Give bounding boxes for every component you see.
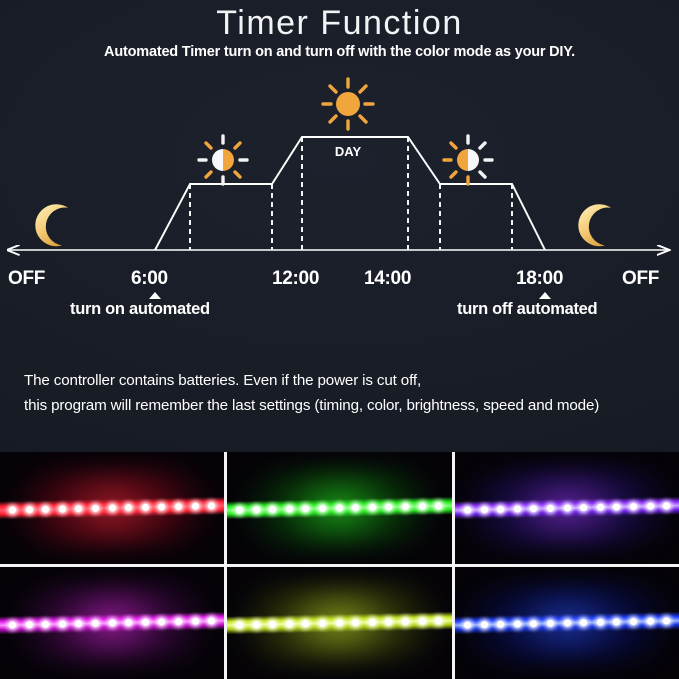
battery-note-line-1: The controller contains batteries. Even … bbox=[24, 368, 664, 393]
led-strip-blue bbox=[455, 567, 679, 679]
sunrise-icon bbox=[199, 136, 247, 184]
timer-profile-chart: DAY bbox=[0, 68, 679, 268]
sun-icon bbox=[323, 79, 373, 129]
turn-on-note: turn on automated bbox=[70, 300, 210, 319]
led-strip-red bbox=[0, 452, 224, 564]
day-label: DAY bbox=[335, 144, 362, 159]
timer-function-infographic: Timer Function Automated Timer turn on a… bbox=[0, 0, 679, 679]
led-strip-green bbox=[227, 452, 451, 564]
tick-label-1800: 18:00 bbox=[516, 268, 563, 290]
led-strip-violet bbox=[455, 452, 679, 564]
page-title: Timer Function bbox=[0, 4, 679, 43]
turn-off-note: turn off automated bbox=[457, 300, 597, 319]
battery-note-line-2: this program will remember the last sett… bbox=[24, 393, 664, 418]
tick-label-1200: 12:00 bbox=[272, 268, 319, 290]
diagram-panel: Timer Function Automated Timer turn on a… bbox=[0, 0, 679, 452]
axis-label-off-end: OFF bbox=[622, 268, 659, 290]
sunset-icon bbox=[444, 136, 492, 184]
tick-label-0600: 6:00 bbox=[131, 268, 168, 290]
axis-label-off-start: OFF bbox=[8, 268, 45, 290]
moon-icon bbox=[31, 200, 72, 249]
led-strip-magenta bbox=[0, 567, 224, 679]
page-subtitle: Automated Timer turn on and turn off wit… bbox=[0, 44, 679, 60]
moon-icon bbox=[574, 200, 615, 249]
tick-label-1400: 14:00 bbox=[364, 268, 411, 290]
led-color-photo-grid bbox=[0, 452, 679, 679]
turn-on-caret-icon bbox=[149, 292, 161, 299]
turn-off-caret-icon bbox=[539, 292, 551, 299]
led-strip-yellowgreen bbox=[227, 567, 451, 679]
battery-note: The controller contains batteries. Even … bbox=[24, 368, 664, 418]
